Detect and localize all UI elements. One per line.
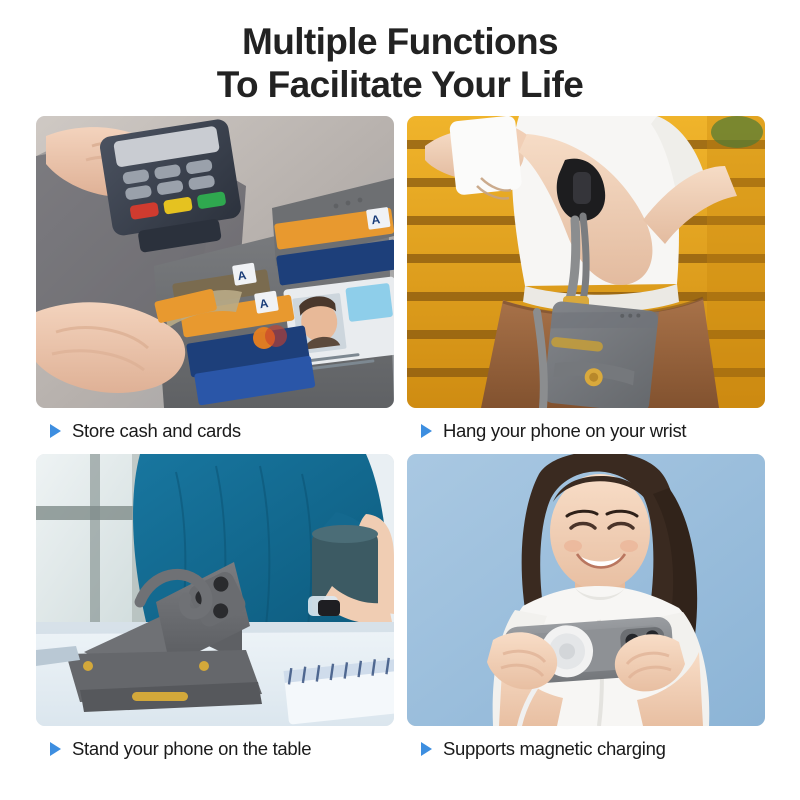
feature-caption-text: Stand your phone on the table [72, 738, 311, 760]
feature-caption-hang-your-phone-on-your-wrist: Hang your phone on your wrist [407, 408, 765, 454]
page-title-line-2: To Facilitate Your Life [0, 63, 800, 106]
feature-caption-text: Hang your phone on your wrist [443, 420, 686, 442]
feature-caption-supports-magnetic-charging: Supports magnetic charging [407, 726, 765, 772]
feature-row-1: A [36, 116, 765, 454]
page-title: Multiple Functions To Facilitate Your Li… [0, 0, 800, 106]
feature-row-2: Stand your phone on the table [36, 454, 765, 772]
triangle-right-icon [421, 424, 432, 438]
zipper [132, 692, 188, 701]
triangle-right-icon [50, 742, 61, 756]
feature-caption-text: Supports magnetic charging [443, 738, 666, 760]
feature-image-store-cash-and-cards: A [36, 116, 394, 408]
feature-caption-text: Store cash and cards [72, 420, 241, 442]
feature-cell-supports-magnetic-charging: Supports magnetic charging [407, 454, 765, 772]
feature-grid: A [36, 116, 765, 772]
feature-cell-store-cash-and-cards: A [36, 116, 394, 454]
feature-cell-hang-your-phone-on-your-wrist: Hang your phone on your wrist [407, 116, 765, 454]
feature-cell-stand-your-phone-on-the-table: Stand your phone on the table [36, 454, 394, 772]
triangle-right-icon [421, 742, 432, 756]
feature-image-supports-magnetic-charging [407, 454, 765, 726]
page-title-line-1: Multiple Functions [0, 20, 800, 63]
feature-image-stand-your-phone-on-the-table [36, 454, 394, 726]
feature-image-hang-your-phone-on-your-wrist [407, 116, 765, 408]
feature-caption-store-cash-and-cards: Store cash and cards [36, 408, 394, 454]
feature-caption-stand-your-phone-on-the-table: Stand your phone on the table [36, 726, 394, 772]
triangle-right-icon [50, 424, 61, 438]
